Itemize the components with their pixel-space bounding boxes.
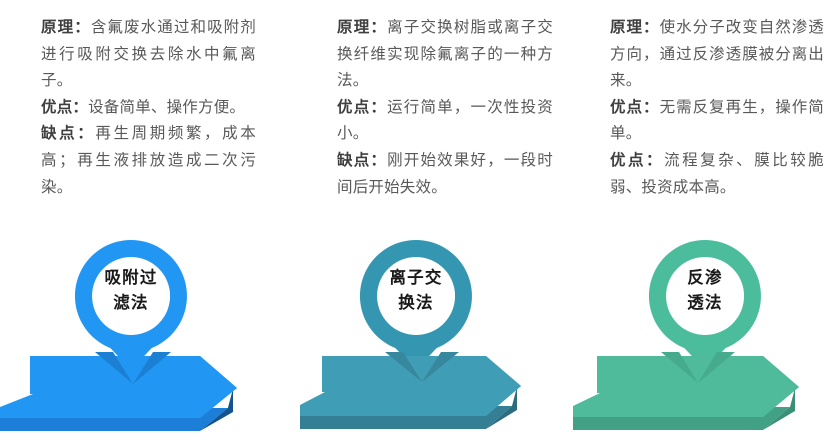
description-entry: 优点：运行简单，一次性投资小。 (337, 94, 553, 147)
entry-lead: 优点： (337, 98, 387, 116)
arrow-base-3d-icon (0, 352, 266, 443)
description-entry: 原理：离子交换树脂或离子交换纤维实现除氟离子的一种方法。 (337, 14, 553, 94)
entry-lead: 优点： (610, 151, 664, 169)
arrow-base-ion-exchange (278, 352, 556, 443)
arrow-base-adsorption-filtration (0, 352, 278, 443)
method-card-adsorption-filtration: 原理：含氟废水通过和吸附剂进行吸附交换去除水中氟离子。 优点：设备简单、操作方便… (0, 0, 278, 443)
method-comparison-board: 原理：含氟废水通过和吸附剂进行吸附交换去除水中氟离子。 优点：设备简单、操作方便… (0, 0, 835, 443)
arrow-base-3d-icon (573, 352, 823, 443)
entry-lead: 原理： (337, 18, 387, 36)
description-entry: 原理：使水分子改变自然渗透方向，通过反渗透膜被分离出来。 (610, 14, 824, 94)
description-entry: 优点：流程复杂、膜比较脆弱、投资成本高。 (610, 147, 824, 200)
method-description-reverse-osmosis: 原理：使水分子改变自然渗透方向，通过反渗透膜被分离出来。 优点：无需反复再生，操… (610, 14, 824, 200)
entry-lead: 优点： (41, 98, 88, 116)
entry-lead: 原理： (610, 18, 660, 36)
pin-ring-shape (75, 240, 187, 352)
method-description-adsorption-filtration: 原理：含氟废水通过和吸附剂进行吸附交换去除水中氟离子。 优点：设备简单、操作方便… (41, 14, 256, 200)
description-entry: 缺点：再生周期频繁，成本高；再生液排放造成二次污染。 (41, 120, 256, 200)
pin-ring-shape (360, 240, 472, 352)
arrow-base-3d-icon (300, 352, 544, 443)
method-description-ion-exchange: 原理：离子交换树脂或离子交换纤维实现除氟离子的一种方法。 优点：运行简单，一次性… (337, 14, 553, 200)
description-entry: 优点：无需反复再生，操作简单。 (610, 94, 824, 147)
pin-ring-shape (649, 240, 761, 352)
method-card-ion-exchange: 原理：离子交换树脂或离子交换纤维实现除氟离子的一种方法。 优点：运行简单，一次性… (278, 0, 556, 443)
description-entry: 原理：含氟废水通过和吸附剂进行吸附交换去除水中氟离子。 (41, 14, 256, 94)
entry-lead: 缺点： (41, 124, 95, 142)
entry-text: 设备简单、操作方便。 (88, 98, 245, 116)
description-entry: 缺点：刚开始效果好，一段时间后开始失效。 (337, 147, 553, 200)
entry-lead: 原理： (41, 18, 91, 36)
description-entry: 优点：设备简单、操作方便。 (41, 94, 256, 121)
entry-lead: 缺点： (337, 151, 387, 169)
arrow-base-reverse-osmosis (557, 352, 835, 443)
entry-lead: 优点： (610, 98, 660, 116)
method-card-reverse-osmosis: 原理：使水分子改变自然渗透方向，通过反渗透膜被分离出来。 优点：无需反复再生，操… (557, 0, 835, 443)
